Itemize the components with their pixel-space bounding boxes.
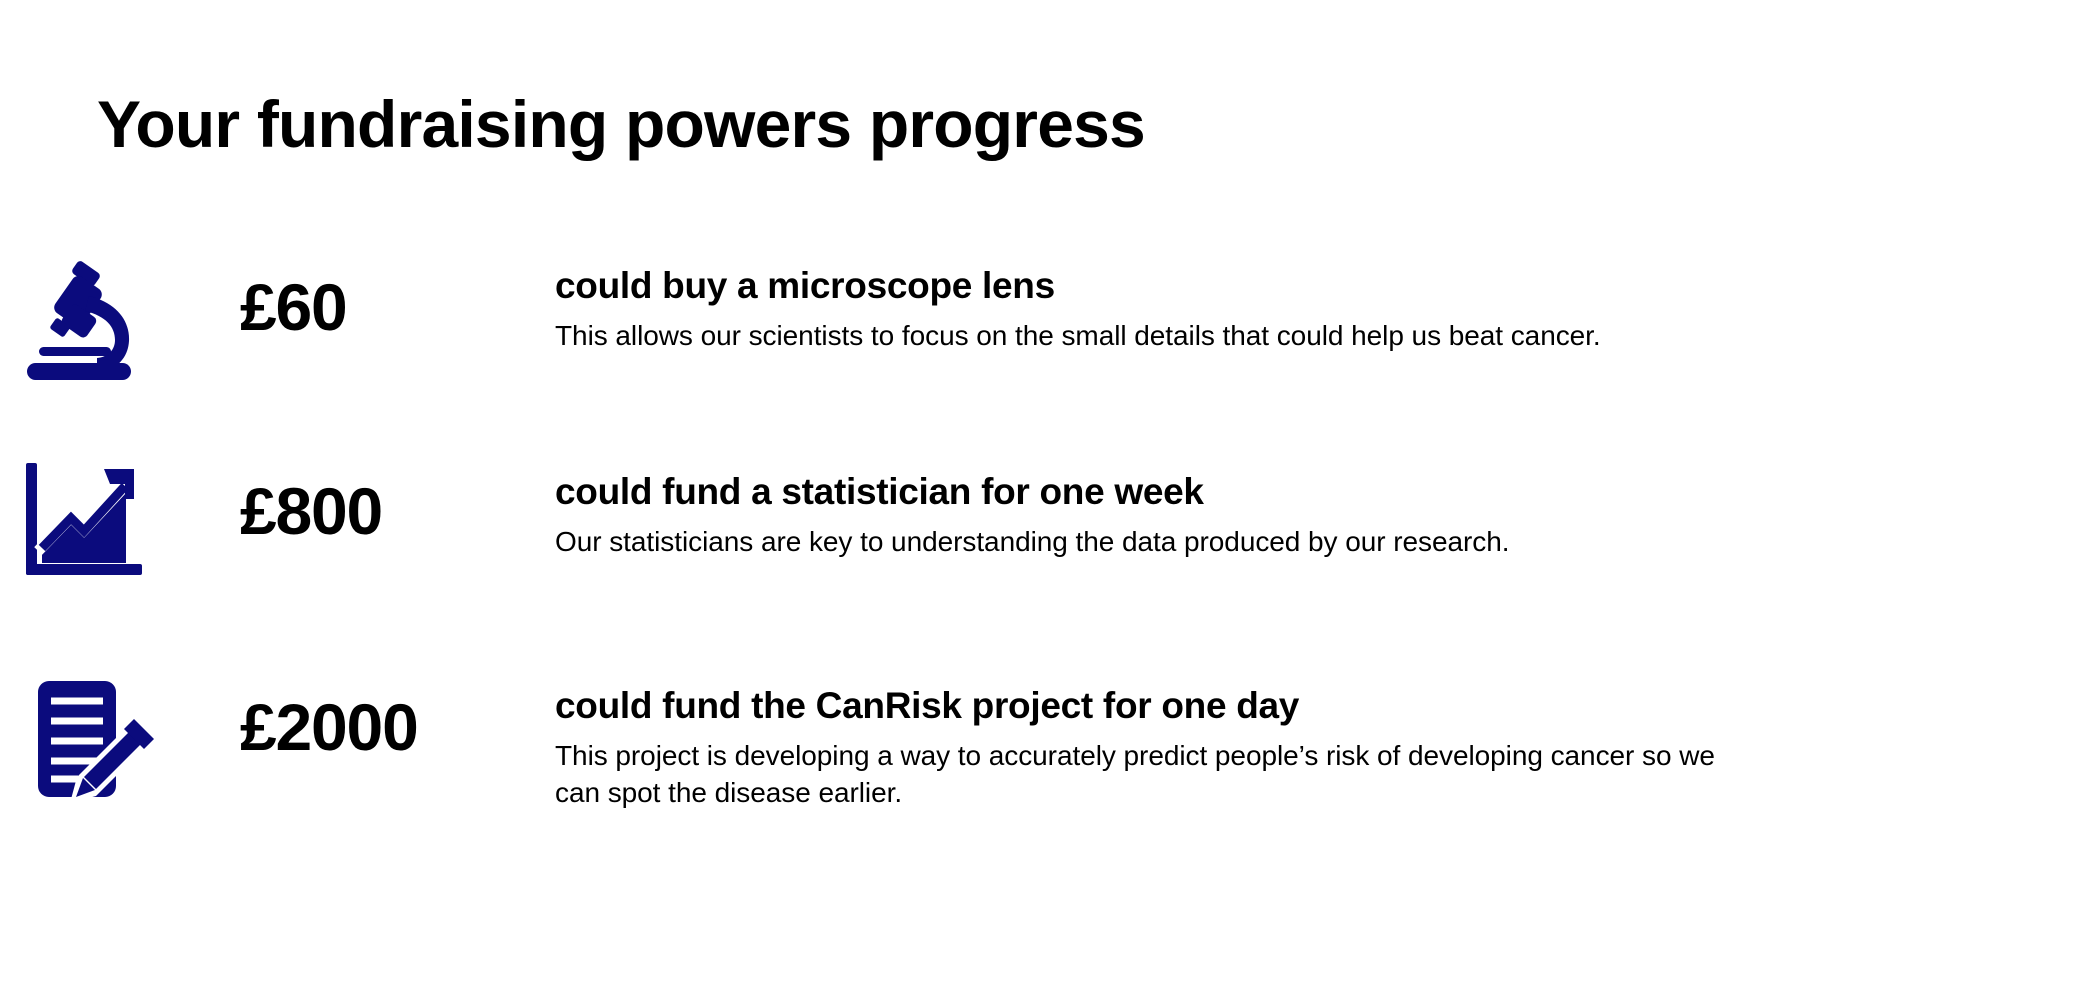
impact-row-document: £2000 could fund the CanRisk project for… [0,670,2084,870]
impact-row-text-cell: could buy a microscope lens This allows … [555,252,1815,354]
impact-row-microscope: £60 could buy a microscope lens This all… [0,252,2084,452]
impact-row-text-cell: could fund the CanRisk project for one d… [555,670,1815,811]
impact-row-amount: £800 [240,478,382,544]
impact-row-heading: could buy a microscope lens [555,264,1755,308]
fundraising-impact-panel: Your fundraising powers progress [0,0,2084,981]
document-pencil-icon [30,677,156,803]
impact-row-body: Our statisticians are key to understandi… [555,523,1755,560]
impact-row-amount-cell: £800 [240,452,555,544]
growth-chart-icon [22,459,146,583]
impact-row-icon-cell [0,252,240,387]
impact-row-amount: £60 [240,274,347,340]
page-title: Your fundraising powers progress [97,88,1145,162]
impact-row-heading: could fund a statistician for one week [555,470,1755,514]
impact-row-icon-cell [0,670,240,805]
impact-row-text-cell: could fund a statistician for one week O… [555,452,1815,560]
impact-row-heading: could fund the CanRisk project for one d… [555,684,1755,728]
impact-row-icon-cell [0,452,240,587]
impact-row-body: This project is developing a way to accu… [555,737,1745,811]
impact-row-chart: £800 could fund a statistician for one w… [0,452,2084,670]
impact-row-amount-cell: £60 [240,252,555,340]
impact-row-amount-cell: £2000 [240,670,555,760]
impact-rows-list: £60 could buy a microscope lens This all… [0,252,2084,870]
impact-row-body: This allows our scientists to focus on t… [555,317,1745,354]
impact-row-amount: £2000 [240,694,418,760]
microscope-icon [17,259,145,387]
